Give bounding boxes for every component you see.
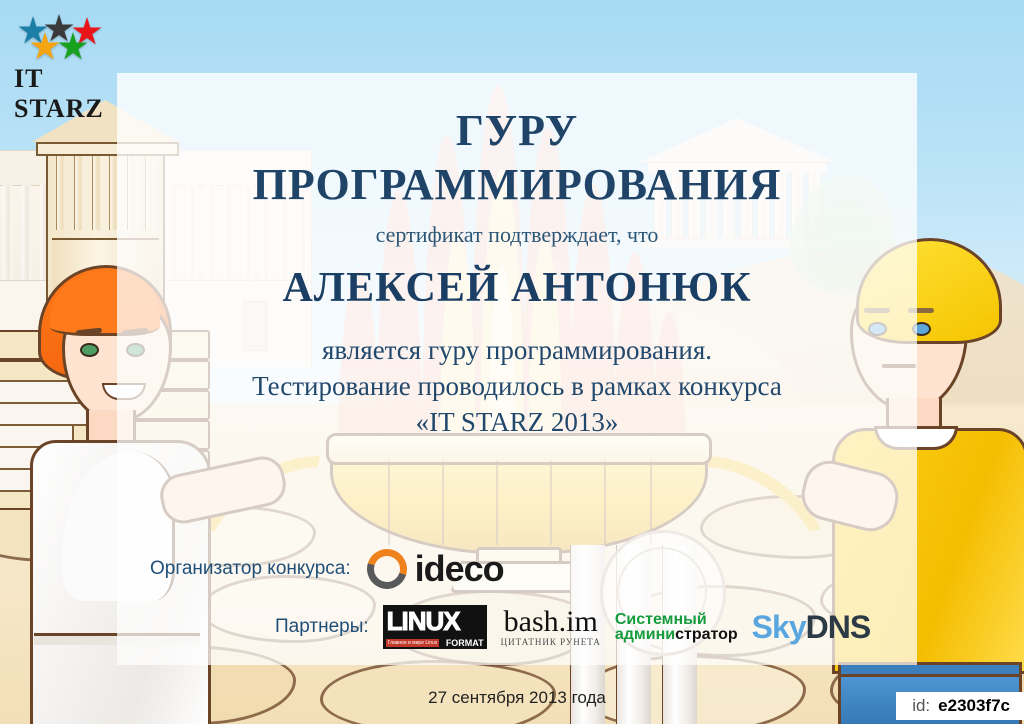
linux-format-tagline: Главное в мире Linux [386,639,440,647]
body-line-2: Тестирование проводилось в рамках конкур… [117,368,917,404]
issue-date: 27 сентября 2013 года [117,688,917,708]
bash-im-tagline: ЦИТАТНИК РУНЕТА [501,637,601,647]
sysadmin-line2-black: стратор [675,626,738,643]
certificate-content: IT STARZ ГУРУ ПРОГРАММИРОВАНИЯ сертифика… [0,0,1024,724]
id-label: id: [912,696,930,716]
organizer-row: Организатор конкурса: ideco [150,548,504,590]
linux-format-line1: LINUX [387,606,460,636]
certificate-body: является гуру программирования. Тестиров… [117,332,917,440]
partners-label: Партнеры: [275,616,369,638]
ideco-swirl-icon [367,549,407,589]
ideco-wordmark: ideco [415,548,504,590]
skydns-part1: Sky [752,609,806,645]
sysadmin-line2-green: админи [615,626,675,643]
certificate-subtitle: сертификат подтверждает, что [117,222,917,248]
logo-stars [14,14,106,62]
partner-skydns-logo: SkyDNS [752,609,871,646]
certificate-id-bar: id: e2303f7c [896,692,1024,720]
bash-im-wordmark: bash.im [501,607,601,637]
ideco-logo: ideco [367,548,504,590]
organizer-label: Организатор конкурса: [150,558,351,580]
title-line-2: ПРОГРАММИРОВАНИЯ [117,158,917,212]
certificate-title: ГУРУ ПРОГРАММИРОВАНИЯ [117,104,917,212]
partner-linux-format-logo: LINUX Главное в мире Linux FORMAT [383,605,487,649]
body-line-1: является гуру программирования. [117,332,917,368]
title-line-1: ГУРУ [117,104,917,158]
certificate-canvas: IT STARZ ГУРУ ПРОГРАММИРОВАНИЯ сертифика… [0,0,1024,724]
body-line-3: «IT STARZ 2013» [117,404,917,440]
partners-row: Партнеры: LINUX Главное в мире Linux FOR… [275,605,870,649]
id-value: e2303f7c [938,696,1010,716]
partner-bash-im-logo: bash.im ЦИТАТНИК РУНЕТА [501,607,601,647]
it-starz-logo: IT STARZ [14,14,114,124]
linux-format-line2: FORMAT [446,638,484,648]
sysadmin-line1: Системный [615,612,738,627]
skydns-part2: DNS [806,609,871,645]
recipient-name: АЛЕКСЕЙ АНТОНЮК [117,264,917,312]
partner-sysadmin-logo: Системный администратор [615,612,738,642]
logo-wordmark: IT STARZ [14,64,114,124]
